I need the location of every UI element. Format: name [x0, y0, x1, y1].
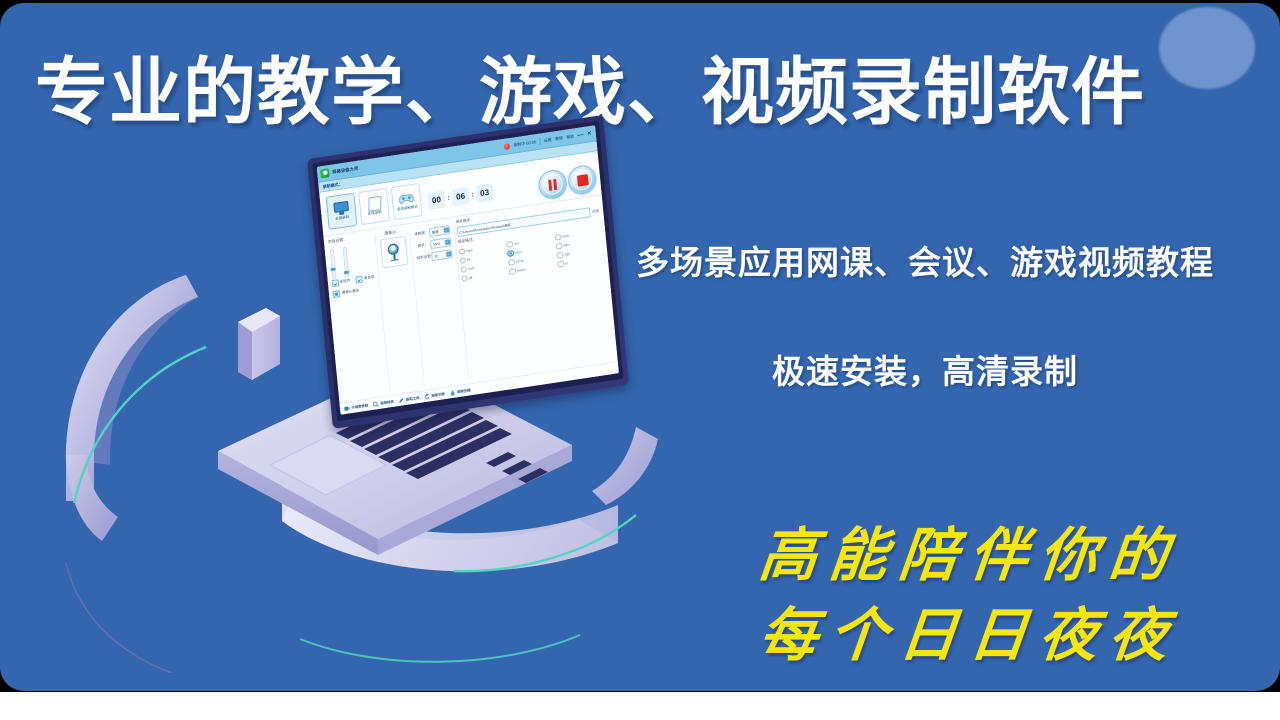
format-radio-group: mp4 avi wmv flv mov mkv mp3 rmvb 3gp [458, 227, 604, 283]
setting-label: 帧率设置： [416, 255, 429, 262]
chevron-down-icon [444, 239, 449, 245]
camera-overlay-icon [333, 290, 341, 298]
window-icon [366, 196, 382, 211]
capture-mode-label: 游戏录制模式 [397, 205, 418, 213]
timer-separator: : [471, 191, 474, 198]
search-icon [373, 400, 379, 407]
action-pip-record[interactable]: 子母屏录制 [344, 402, 369, 412]
slogan-line-1: 高能陪伴你的 [696, 508, 1245, 592]
pause-button[interactable] [539, 169, 567, 199]
mode-tabstrip-label: 录制模式： [322, 181, 342, 190]
timer-minutes: 06 [451, 187, 469, 206]
record-dot-icon [504, 143, 510, 150]
volume-sliders [329, 241, 374, 277]
recorder-app-icon [320, 168, 330, 178]
video-edit-icon [344, 405, 350, 412]
gamepad-icon [398, 191, 414, 206]
webcam-icon [387, 242, 402, 262]
device-section-header: 摄像头： [384, 230, 399, 237]
capture-mode-label: 全屏录制 [335, 215, 349, 222]
subtitle-features: 多场景应用网课、会议、游戏视频教程 [580, 236, 1270, 284]
quality-value: 高清 [431, 229, 438, 235]
subtitle-install: 极速安装，高清录制 [580, 345, 1270, 393]
divider [539, 138, 541, 145]
chevron-down-icon [443, 227, 448, 233]
screenshot-canvas: 专业的教学、游戏、视频录制软件 多场景应用网课、会议、游戏视频教程 极速安装，高… [0, 0, 1280, 720]
action-label: 视频转换 [380, 399, 394, 406]
mic-volume-slider[interactable] [342, 247, 349, 276]
radio-label: 3gp [564, 252, 570, 257]
capture-mode-fullscreen[interactable]: 全屏录制 [326, 193, 358, 230]
radio-label: flv [467, 257, 471, 261]
camera-overlay-option[interactable]: 摄像头叠加 [333, 284, 376, 298]
radio-label: mp4 [466, 248, 473, 253]
webcam-preview[interactable] [380, 236, 408, 269]
format-value: MP4 [433, 241, 440, 246]
radio-label: webm [517, 267, 526, 272]
action-label: 子母屏录制 [351, 403, 368, 410]
monitor-icon [333, 200, 349, 215]
transport-controls [537, 151, 601, 203]
radio-label: rmvb [516, 259, 524, 264]
camera-overlay-label: 摄像头叠加 [342, 288, 360, 296]
action-refresh-list[interactable]: 刷新列表 [424, 391, 445, 400]
menu-item-tutorial[interactable]: 教程 [555, 135, 563, 142]
checkbox-label: 系统声 [340, 278, 351, 285]
action-pen-tool[interactable]: 画笔工具 [398, 394, 419, 403]
checkbox-microphone[interactable]: 麦克风 [356, 274, 375, 283]
action-label: 画笔工具 [406, 395, 420, 402]
laptop-screen: 屏幕录像大师 录制中 00:06 设置 教程 帮助 — ✕ [307, 115, 629, 429]
capture-mode-game[interactable]: 游戏录制模式 [391, 183, 423, 220]
stop-record-button[interactable] [568, 165, 596, 195]
refresh-icon [424, 393, 430, 400]
format-select[interactable]: MP4 [430, 237, 451, 249]
timer-seconds: 03 [475, 183, 493, 202]
menu-item-settings[interactable]: 设置 [544, 136, 552, 143]
close-button[interactable]: ✕ [587, 130, 593, 137]
checkbox-label: 麦克风 [364, 275, 375, 282]
action-video-convert[interactable]: 视频转换 [373, 398, 394, 407]
browse-button[interactable]: 浏览 [592, 208, 599, 214]
slogan-line-2: 每个日日夜夜 [696, 588, 1245, 672]
laptop-illustration: 屏幕录像大师 录制中 00:06 设置 教程 帮助 — ✕ [40, 163, 680, 691]
capture-mode-region[interactable]: 区域录制 [358, 188, 390, 225]
radio-label: ts [565, 261, 568, 265]
setting-label: 格式： [415, 243, 428, 250]
radio-label: mp3 [468, 266, 475, 271]
stop-record-icon [571, 168, 593, 191]
timer-separator: : [447, 195, 450, 202]
recorder-app-window: 屏幕录像大师 录制中 00:06 设置 教程 帮助 — ✕ [317, 125, 619, 414]
pen-icon [398, 397, 404, 404]
action-video-compress[interactable]: 视频压缩 [450, 387, 471, 396]
checkbox-system-audio[interactable]: 系统声 [332, 277, 351, 286]
timer-hours: 00 [427, 190, 445, 209]
quality-select[interactable]: 高清 [429, 225, 450, 237]
minimize-button[interactable]: — [577, 132, 583, 139]
radio-label: gif [469, 275, 473, 280]
app-body: 全屏录制 区域录制 [319, 151, 619, 414]
setting-label: 清晰度： [414, 231, 427, 238]
radio-label: avi [514, 241, 519, 246]
framerate-select[interactable]: 30 [431, 250, 452, 262]
chevron-down-icon [446, 252, 451, 258]
radio-label: mov [515, 250, 522, 255]
water-icon [450, 389, 456, 396]
laptop-device: 屏幕录像大师 录制中 00:06 设置 教程 帮助 — ✕ [160, 163, 630, 583]
promo-banner-card: 专业的教学、游戏、视频录制软件 多场景应用网课、会议、游戏视频教程 极速安装，高… [0, 3, 1280, 691]
radio-label: wmv [562, 233, 569, 238]
record-status-badge: 录制中 00:06 [513, 139, 536, 148]
menu-item-help[interactable]: 帮助 [566, 133, 574, 140]
action-label: 刷新列表 [431, 391, 445, 398]
framerate-value: 30 [434, 254, 438, 259]
save-settings-column: 保存路径： C:\Users\Administrator\Desktop\录屏 … [453, 195, 617, 383]
setting-row-framerate: 帧率设置： 30 [416, 250, 452, 264]
pause-icon [542, 173, 564, 196]
app-title: 屏幕录像大师 [332, 165, 359, 175]
action-label: 视频压缩 [457, 387, 471, 394]
radio-label: mkv [563, 243, 569, 248]
system-volume-slider[interactable] [329, 249, 336, 278]
